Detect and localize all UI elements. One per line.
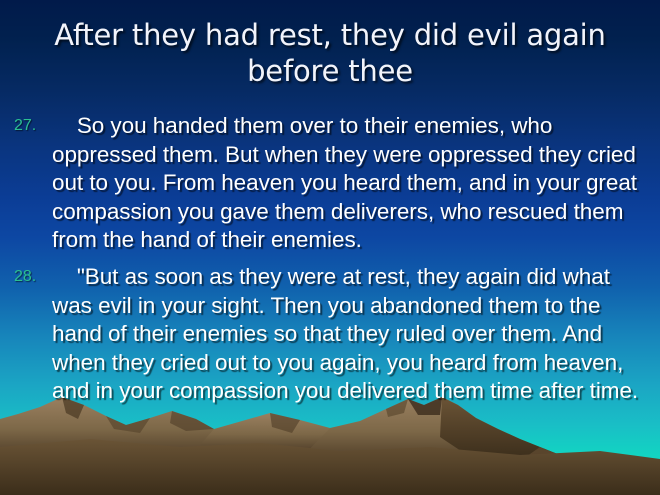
list-item: 27. So you handed them over to their ene… [8, 112, 654, 255]
verse-text-28: "But as soon as they were at rest, they … [52, 263, 654, 406]
verse-text-27: So you handed them over to their enemies… [52, 112, 654, 255]
verse-number-27: 27. [14, 115, 36, 137]
presentation-slide: After they had rest, they did evil again… [0, 0, 660, 495]
list-item: 28. "But as soon as they were at rest, t… [8, 263, 654, 406]
verse-number-28: 28. [14, 266, 36, 288]
verse-list: 27. So you handed them over to their ene… [0, 112, 660, 414]
slide-title: After they had rest, they did evil again… [0, 17, 660, 89]
